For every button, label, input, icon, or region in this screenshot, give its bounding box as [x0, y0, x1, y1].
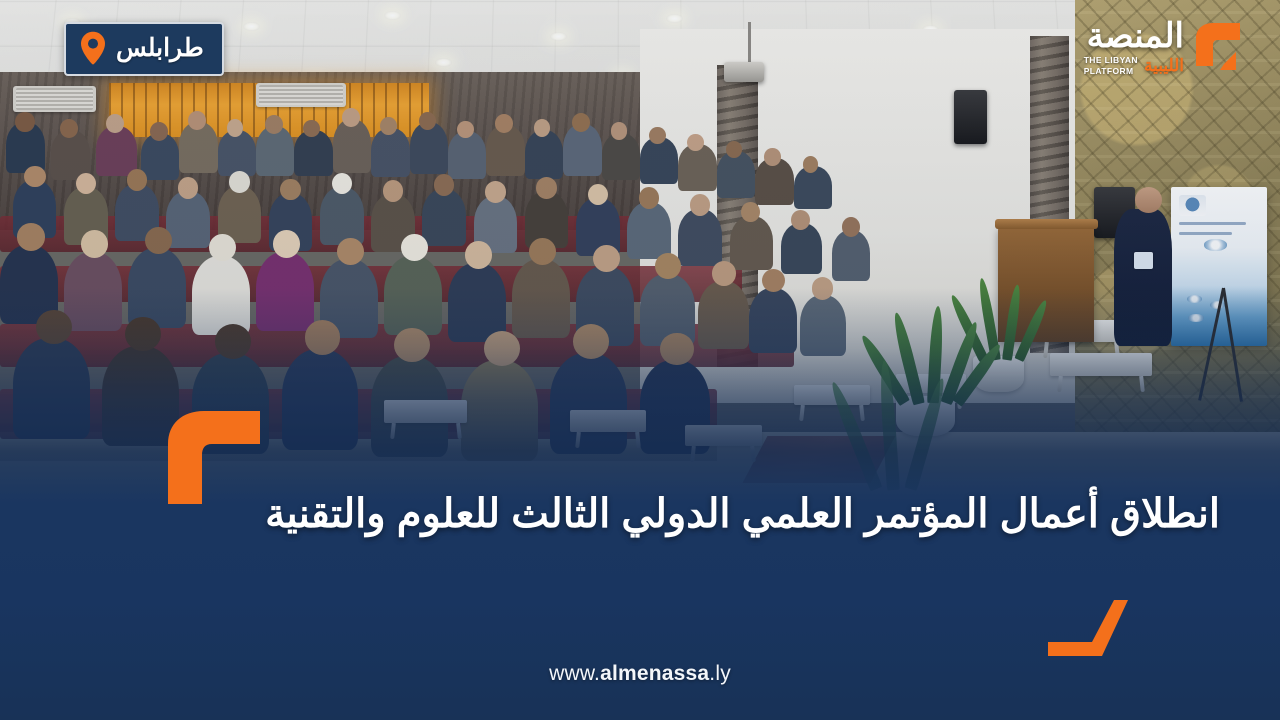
- url-brand: almenassa: [600, 662, 709, 685]
- headline: انطلاق أعمال المؤتمر العلمي الدولي الثال…: [180, 486, 1220, 543]
- map-pin-icon: [80, 31, 106, 65]
- side-table: [570, 410, 647, 432]
- url-tld: .ly: [709, 662, 731, 685]
- location-label: طرابلس: [116, 36, 204, 61]
- id-badge: [1134, 252, 1153, 269]
- location-badge[interactable]: طرابلس: [64, 22, 224, 76]
- brand-name-english: THE LIBYAN PLATFORM: [1084, 55, 1138, 76]
- brand-logo[interactable]: المنصة THE LIBYAN PLATFORM الليبية: [1084, 18, 1252, 80]
- url-prefix: www.: [549, 662, 600, 685]
- side-table: [685, 425, 762, 447]
- poster-canvas: طرابلس المنصة THE LIBYAN PLATFORM الليبي…: [0, 0, 1280, 720]
- side-table: [384, 400, 467, 423]
- side-table: [1050, 353, 1152, 376]
- brand-subname-arabic: الليبية: [1144, 57, 1184, 74]
- footer-website-url[interactable]: www.almenassa.ly: [0, 662, 1280, 686]
- orange-bracket-mark-icon: [1190, 20, 1252, 80]
- brand-wordmark: المنصة THE LIBYAN PLATFORM الليبية: [1084, 18, 1184, 77]
- rollup-banner: [1171, 187, 1267, 345]
- brand-name-arabic: المنصة: [1087, 20, 1184, 52]
- orange-corner-bracket-bottom-right-icon: [1046, 598, 1132, 660]
- presenter: [1114, 209, 1173, 346]
